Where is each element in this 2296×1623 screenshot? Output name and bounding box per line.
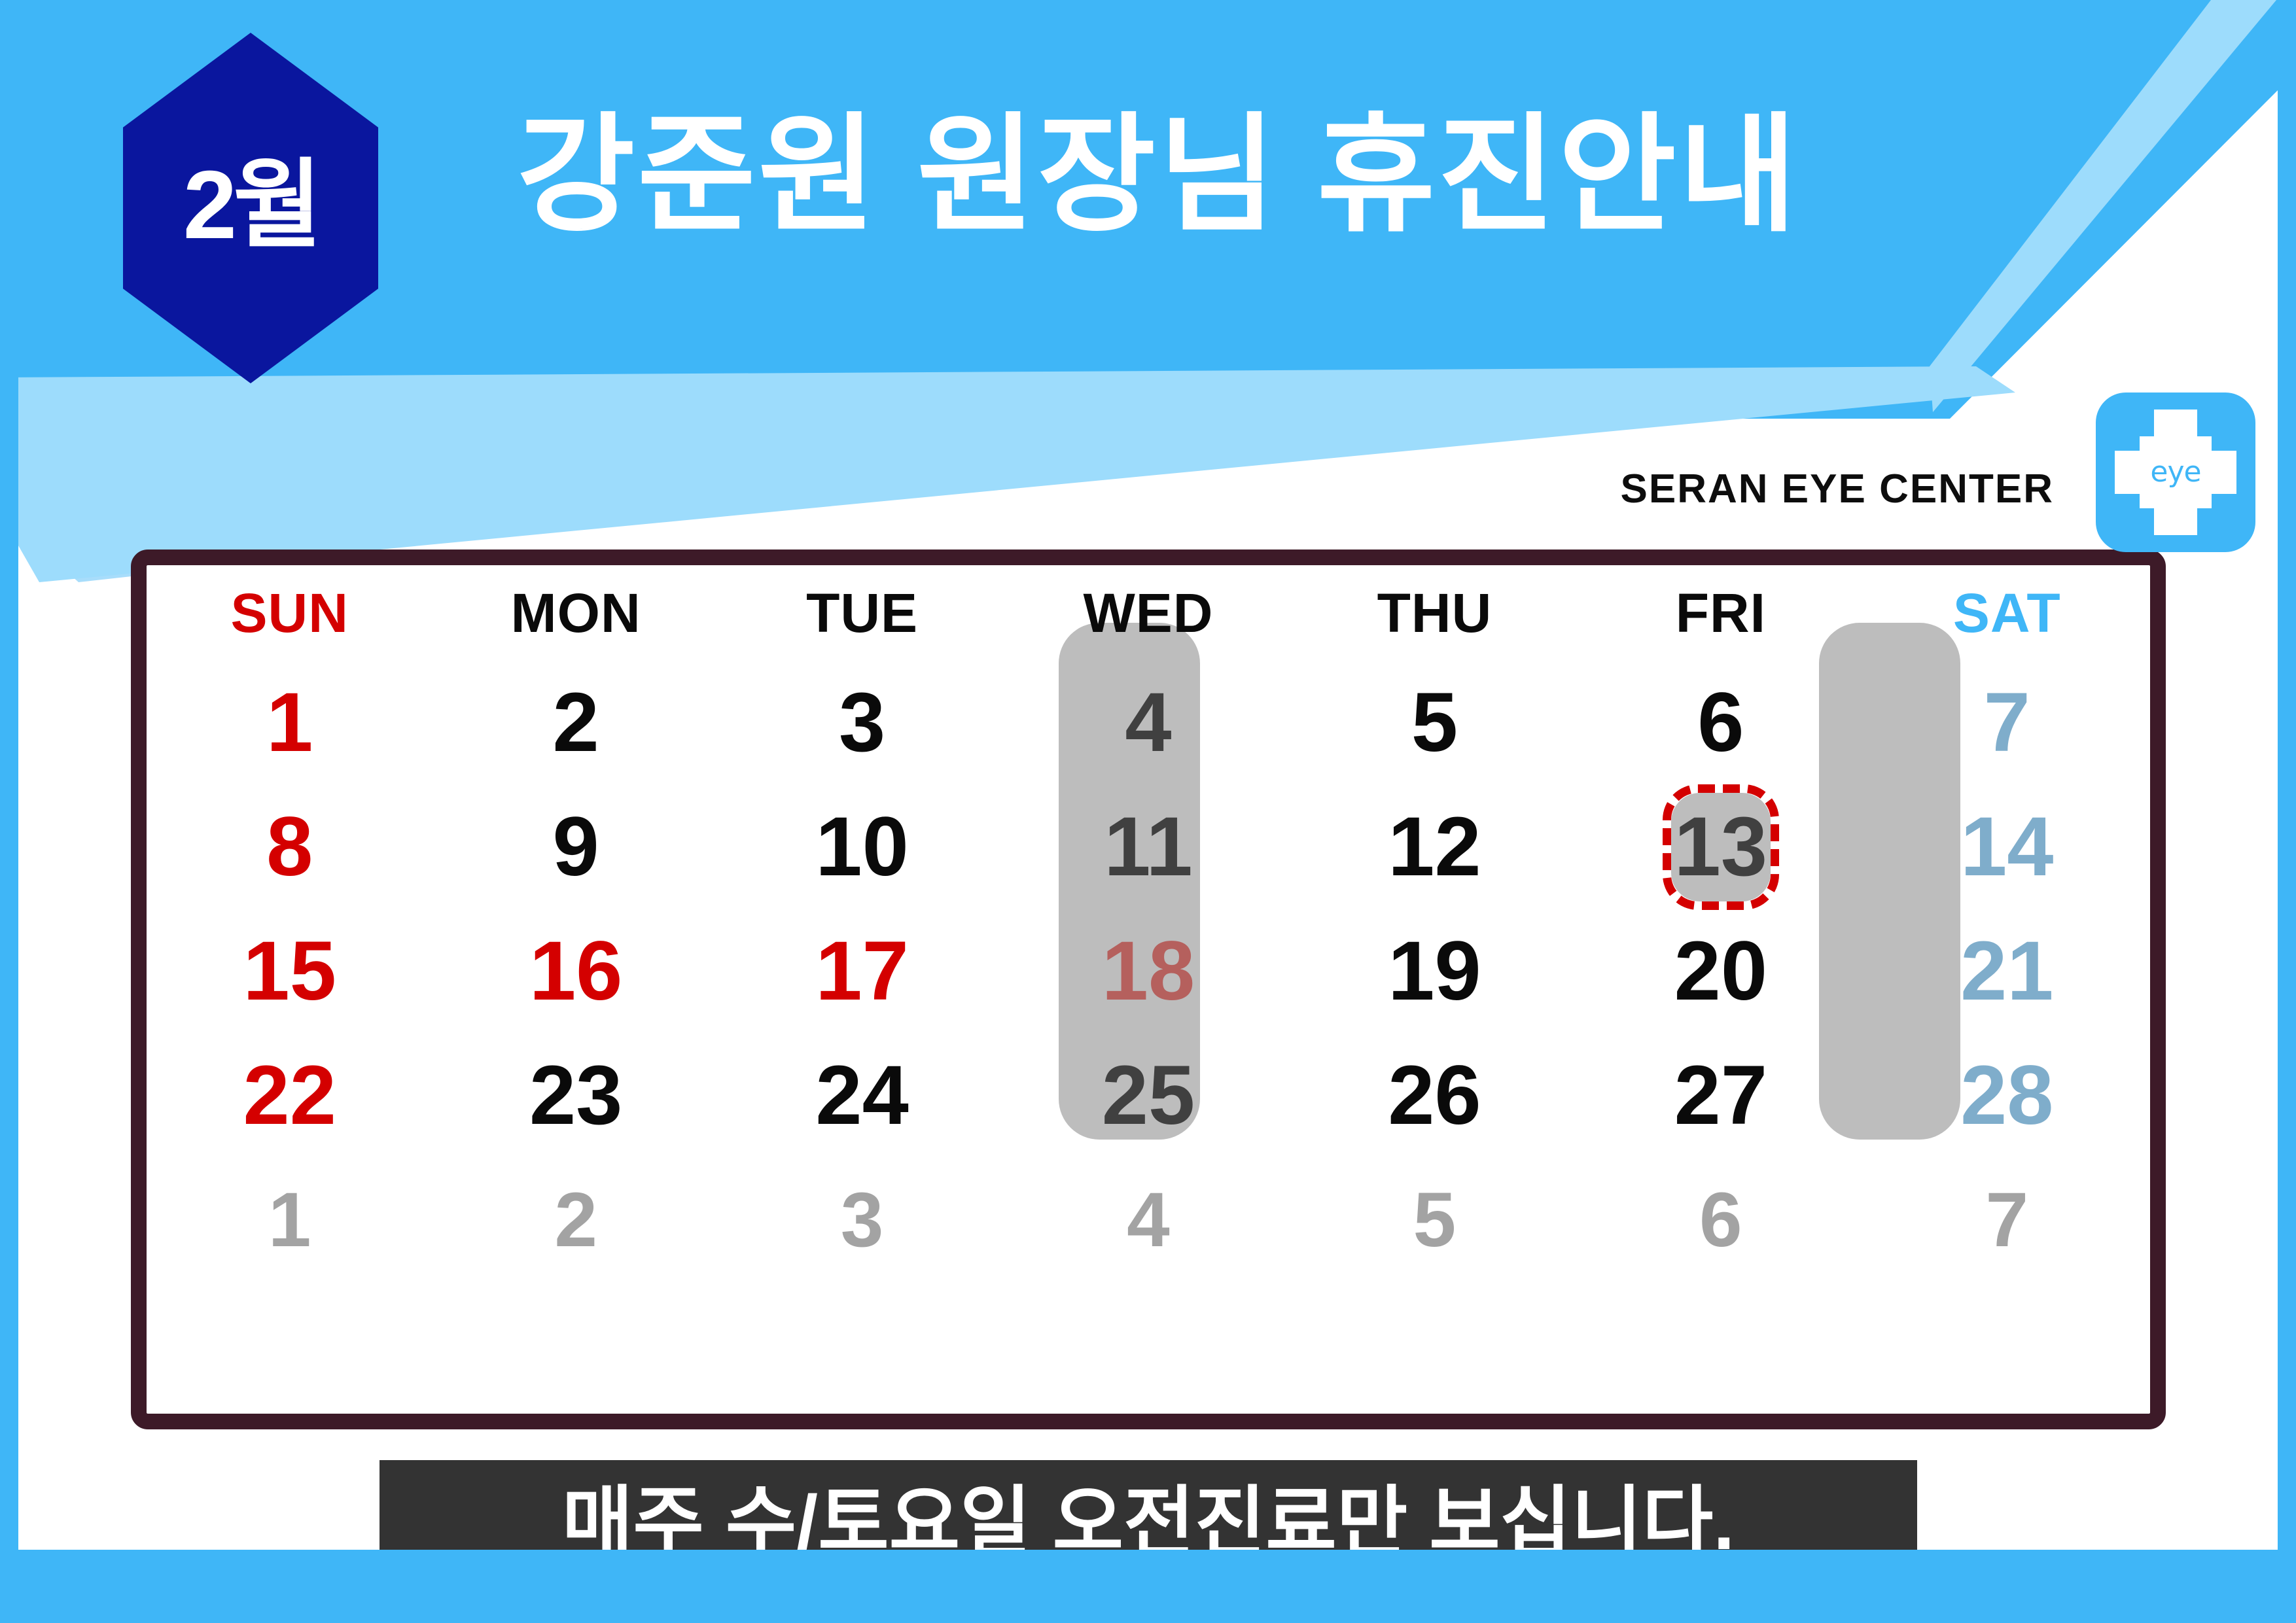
day-cell[interactable]: 15 bbox=[147, 909, 433, 1034]
page-title: 강준원 원장님 휴진안내 bbox=[517, 111, 1799, 239]
weekday-header-fri: FRI bbox=[1578, 565, 1863, 661]
day-cell[interactable]: 22 bbox=[147, 1034, 433, 1158]
day-cell[interactable]: 2 bbox=[433, 661, 718, 785]
logo-center-box: eye bbox=[2140, 436, 2212, 508]
weekday-header-sat: SAT bbox=[1864, 565, 2150, 661]
day-cell[interactable]: 14 bbox=[1864, 785, 2150, 909]
weekday-header-thu: THU bbox=[1292, 565, 1578, 661]
day-cell[interactable]: 4 bbox=[1005, 661, 1291, 785]
day-cell[interactable]: 7 bbox=[1864, 661, 2150, 785]
dashed-ring-icon bbox=[1663, 784, 1779, 910]
day-cell[interactable]: 20 bbox=[1578, 909, 1863, 1034]
day-cell[interactable]: 11 bbox=[1005, 785, 1291, 909]
calendar-grid: SUN MON TUE WED THU FRI SAT 1 2 3 4 5 6 … bbox=[147, 565, 2150, 1282]
day-cell[interactable]: 25 bbox=[1005, 1034, 1291, 1158]
day-cell[interactable]: 23 bbox=[433, 1034, 718, 1158]
day-cell[interactable]: 10 bbox=[719, 785, 1005, 909]
month-badge-label: 2월 bbox=[183, 157, 318, 254]
day-cell[interactable]: 21 bbox=[1864, 909, 2150, 1034]
highlighted-day-marker: 13 bbox=[1669, 792, 1773, 903]
day-cell-next-month[interactable]: 5 bbox=[1292, 1158, 1578, 1282]
day-cell-next-month[interactable]: 6 bbox=[1578, 1158, 1863, 1282]
day-cell[interactable]: 27 bbox=[1578, 1034, 1863, 1158]
day-cell-next-month[interactable]: 4 bbox=[1005, 1158, 1291, 1282]
weekday-header-mon: MON bbox=[433, 565, 718, 661]
day-cell[interactable]: 5 bbox=[1292, 661, 1578, 785]
day-cell[interactable]: 9 bbox=[433, 785, 718, 909]
weekday-header-sun: SUN bbox=[147, 565, 433, 661]
day-cell[interactable]: 12 bbox=[1292, 785, 1578, 909]
frame-edge-right bbox=[2278, 0, 2296, 1623]
weekday-header-tue: TUE bbox=[719, 565, 1005, 661]
frame-edge-left bbox=[0, 0, 18, 1623]
day-cell[interactable]: 8 bbox=[147, 785, 433, 909]
weekday-header-wed: WED bbox=[1005, 565, 1291, 661]
day-cell-next-month[interactable]: 1 bbox=[147, 1158, 433, 1282]
poster-root: 2월 강준원 원장님 휴진안내 SERAN EYE CENTER eye SUN… bbox=[0, 0, 2296, 1623]
day-cell[interactable]: 17 bbox=[719, 909, 1005, 1034]
day-cell[interactable]: 24 bbox=[719, 1034, 1005, 1158]
day-cell[interactable]: 19 bbox=[1292, 909, 1578, 1034]
frame-edge-bottom bbox=[0, 1550, 2296, 1623]
day-cell-highlighted[interactable]: 13 bbox=[1578, 785, 1863, 909]
day-cell-next-month[interactable]: 7 bbox=[1864, 1158, 2150, 1282]
calendar-card: SUN MON TUE WED THU FRI SAT 1 2 3 4 5 6 … bbox=[131, 550, 2166, 1429]
day-cell-next-month[interactable]: 2 bbox=[433, 1158, 718, 1282]
day-cell-next-month[interactable]: 3 bbox=[719, 1158, 1005, 1282]
day-cell[interactable]: 1 bbox=[147, 661, 433, 785]
calendar-inner: SUN MON TUE WED THU FRI SAT 1 2 3 4 5 6 … bbox=[147, 565, 2150, 1414]
day-cell[interactable]: 6 bbox=[1578, 661, 1863, 785]
clinic-logo-icon: eye bbox=[2096, 393, 2255, 552]
day-cell[interactable]: 3 bbox=[719, 661, 1005, 785]
day-cell[interactable]: 26 bbox=[1292, 1034, 1578, 1158]
brand-name: SERAN EYE CENTER bbox=[1621, 466, 2054, 512]
logo-eye-text: eye bbox=[2150, 458, 2200, 487]
day-cell[interactable]: 18 bbox=[1005, 909, 1291, 1034]
day-cell[interactable]: 28 bbox=[1864, 1034, 2150, 1158]
day-cell[interactable]: 16 bbox=[433, 909, 718, 1034]
